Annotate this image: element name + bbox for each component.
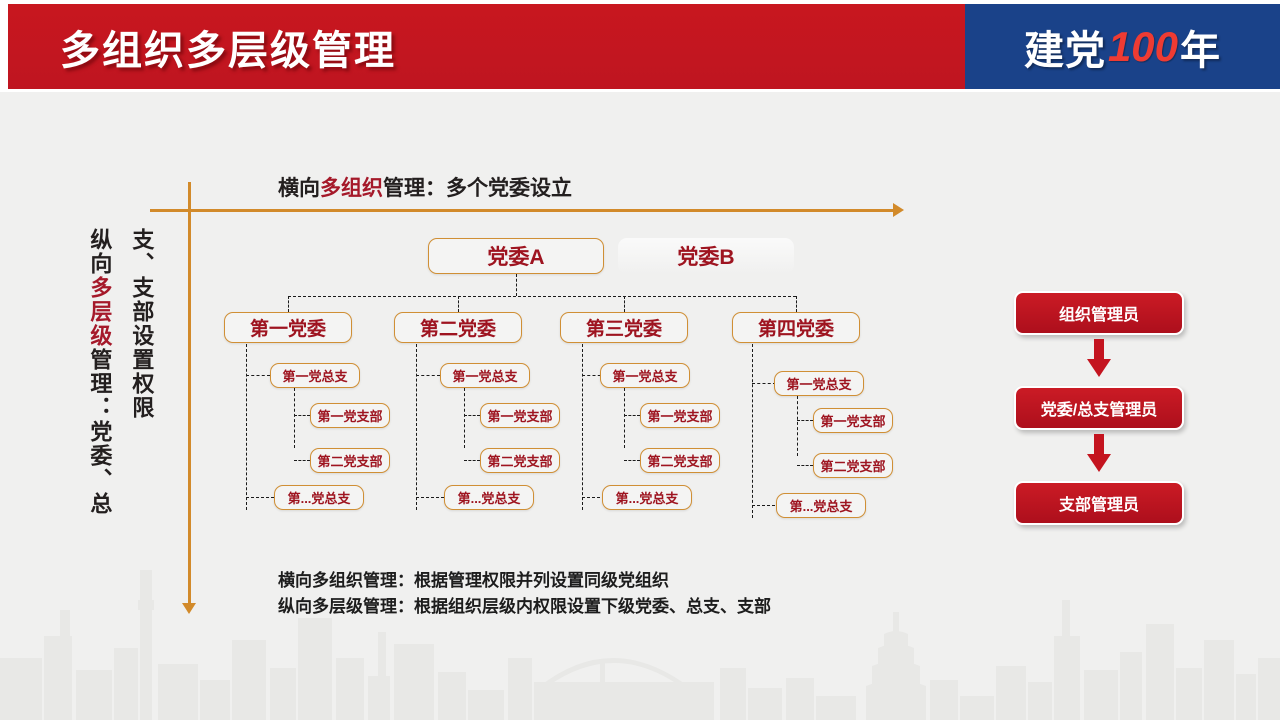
horizontal-axis-arrowhead-icon — [893, 203, 904, 217]
branch-4-zhibu-1[interactable]: 第一党支部 — [813, 408, 893, 433]
branch-2-zhibu-1[interactable]: 第一党支部 — [480, 403, 560, 428]
horizontal-axis-heading: 横向多组织管理：多个党委设立 — [278, 172, 572, 202]
branch-1-link-zz2 — [246, 497, 274, 498]
connector-branch-drop-1 — [288, 296, 289, 312]
branch-1-zongzhi-1[interactable]: 第一党总支 — [270, 363, 360, 388]
branch-4-zongzhi-1[interactable]: 第一党总支 — [774, 371, 864, 396]
branch-4-zongzhi-2[interactable]: 第...党总支 — [776, 493, 866, 518]
connector-branch-drop-2 — [458, 296, 459, 312]
branch-2-zongzhi-2[interactable]: 第...党总支 — [444, 485, 534, 510]
vlabel-highlight: 多层级 — [87, 276, 112, 348]
branch-2-zhibu-2-label: 第二党支部 — [487, 451, 552, 470]
branch-2-zhibu-1-label: 第一党支部 — [487, 406, 552, 425]
branch-2-link-zb2 — [464, 460, 480, 461]
branch-4-link-zb2 — [797, 465, 813, 466]
branch-2-spine — [416, 344, 417, 510]
branch-3-zongzhi-1-label: 第一党总支 — [612, 366, 677, 385]
vertical-axis-arrowhead-icon — [182, 603, 196, 614]
badge-prefix: 建党 — [1024, 18, 1106, 76]
vlabel-part2: 管理：党委、总 — [87, 348, 112, 516]
branch-3-zongzhi-2-label: 第...党总支 — [616, 488, 679, 507]
role-box-org-admin[interactable]: 组织管理员 — [1014, 291, 1184, 335]
branch-2-link-zz2 — [416, 497, 444, 498]
connector-branch-drop-3 — [624, 296, 625, 312]
branch-1-zhibu-2[interactable]: 第二党支部 — [310, 448, 390, 473]
footer-note-1: 横向多组织管理：根据管理权限并列设置同级党组织 — [278, 568, 771, 594]
branch-2-zhibu-2[interactable]: 第二党支部 — [480, 448, 560, 473]
badge-suffix: 年 — [1180, 18, 1221, 76]
branch-4-zhibu-2[interactable]: 第二党支部 — [813, 453, 893, 478]
role-box-committee-admin[interactable]: 党委/总支管理员 — [1014, 386, 1184, 430]
branch-1-sub-spine — [294, 388, 295, 448]
branch-3-link-zb1 — [624, 415, 640, 416]
branch-3-zhibu-2[interactable]: 第二党支部 — [640, 448, 720, 473]
branch-box-1[interactable]: 第一党委 — [224, 312, 352, 343]
heading-part1: 横向 — [278, 177, 320, 200]
branch-3-label: 第三党委 — [586, 314, 662, 341]
branch-1-label: 第一党委 — [250, 314, 326, 341]
branch-box-4[interactable]: 第四党委 — [732, 312, 860, 343]
branch-2-zongzhi-2-label: 第...党总支 — [458, 488, 521, 507]
committee-b-label: 党委B — [677, 241, 734, 271]
city-skyline-watermark — [0, 540, 1280, 720]
branch-3-sub-spine — [624, 388, 625, 448]
branch-4-link-zb1 — [797, 420, 813, 421]
branch-3-spine — [582, 344, 583, 510]
branch-3-zhibu-1[interactable]: 第一党支部 — [640, 403, 720, 428]
branch-2-label: 第二党委 — [420, 314, 496, 341]
heading-highlight: 多组织 — [320, 177, 383, 200]
connector-branch-bus — [288, 296, 796, 297]
branch-4-sub-spine — [797, 396, 798, 456]
committee-box-a[interactable]: 党委A — [428, 238, 604, 274]
branch-2-link-zz1 — [416, 375, 440, 376]
page-title: 多组织多层级管理 — [60, 18, 396, 76]
footer-note-2: 纵向多层级管理：根据组织层级内权限设置下级党委、总支、支部 — [278, 594, 771, 620]
branch-3-zongzhi-2[interactable]: 第...党总支 — [602, 485, 692, 510]
branch-2-zongzhi-1[interactable]: 第一党总支 — [440, 363, 530, 388]
branch-3-zhibu-2-label: 第二党支部 — [647, 451, 712, 470]
branch-4-zhibu-2-label: 第二党支部 — [820, 456, 885, 475]
anniversary-badge: 建党 100 年 — [965, 4, 1280, 89]
slide-canvas: 多组织多层级管理 建党 100 年 横向多组织管理：多个党委设立 纵向多层级管理… — [0, 0, 1280, 720]
arrow-down-icon-1 — [1085, 339, 1113, 377]
branch-1-zongzhi-2[interactable]: 第...党总支 — [274, 485, 364, 510]
footer-notes: 横向多组织管理：根据管理权限并列设置同级党组织 纵向多层级管理：根据组织层级内权… — [278, 568, 771, 621]
role-committee-admin-label: 党委/总支管理员 — [1041, 396, 1157, 420]
heading-part2: 管理：多个党委设立 — [383, 177, 572, 200]
branch-1-link-zz1 — [246, 375, 270, 376]
slide-header: 多组织多层级管理 建党 100 年 — [0, 0, 1280, 92]
branch-1-zongzhi-2-label: 第...党总支 — [288, 488, 351, 507]
arrow-down-icon-2 — [1085, 434, 1113, 472]
branch-1-link-zb1 — [294, 415, 310, 416]
branch-box-3[interactable]: 第三党委 — [560, 312, 688, 343]
committee-box-b[interactable]: 党委B — [618, 238, 794, 274]
branch-1-zhibu-1-label: 第一党支部 — [317, 406, 382, 425]
role-branch-admin-label: 支部管理员 — [1059, 491, 1139, 515]
header-blue-band: 建党 100 年 — [965, 4, 1280, 89]
connector-committee-a-stem — [516, 274, 517, 296]
branch-4-link-zz1 — [752, 383, 776, 384]
branch-4-zongzhi-2-label: 第...党总支 — [790, 496, 853, 515]
branch-1-zhibu-1[interactable]: 第一党支部 — [310, 403, 390, 428]
branch-4-spine — [752, 344, 753, 518]
branch-4-zhibu-1-label: 第一党支部 — [820, 411, 885, 430]
role-box-branch-admin[interactable]: 支部管理员 — [1014, 481, 1184, 525]
branch-1-zongzhi-1-label: 第一党总支 — [282, 366, 347, 385]
vertical-axis-heading-continued: 支、支部设置权限 — [130, 228, 153, 420]
badge-number: 100 — [1106, 23, 1180, 71]
branch-4-zongzhi-1-label: 第一党总支 — [786, 374, 851, 393]
branch-4-label: 第四党委 — [758, 314, 834, 341]
connector-branch-drop-4 — [796, 296, 797, 312]
branch-2-link-zb1 — [464, 415, 480, 416]
committee-a-label: 党委A — [487, 241, 544, 271]
vlabel-part1: 纵向 — [87, 228, 112, 276]
branch-3-link-zb2 — [624, 460, 640, 461]
branch-1-spine — [246, 344, 247, 510]
branch-3-zongzhi-1[interactable]: 第一党总支 — [600, 363, 690, 388]
vertical-axis-heading: 纵向多层级管理：党委、总 — [88, 228, 111, 516]
branch-1-link-zb2 — [294, 460, 310, 461]
branch-box-2[interactable]: 第二党委 — [394, 312, 522, 343]
branch-1-zhibu-2-label: 第二党支部 — [317, 451, 382, 470]
branch-2-zongzhi-1-label: 第一党总支 — [452, 366, 517, 385]
vertical-axis-line — [188, 182, 191, 606]
branch-2-sub-spine — [464, 388, 465, 448]
role-org-admin-label: 组织管理员 — [1059, 301, 1139, 325]
branch-3-zhibu-1-label: 第一党支部 — [647, 406, 712, 425]
horizontal-axis-line — [150, 209, 898, 212]
